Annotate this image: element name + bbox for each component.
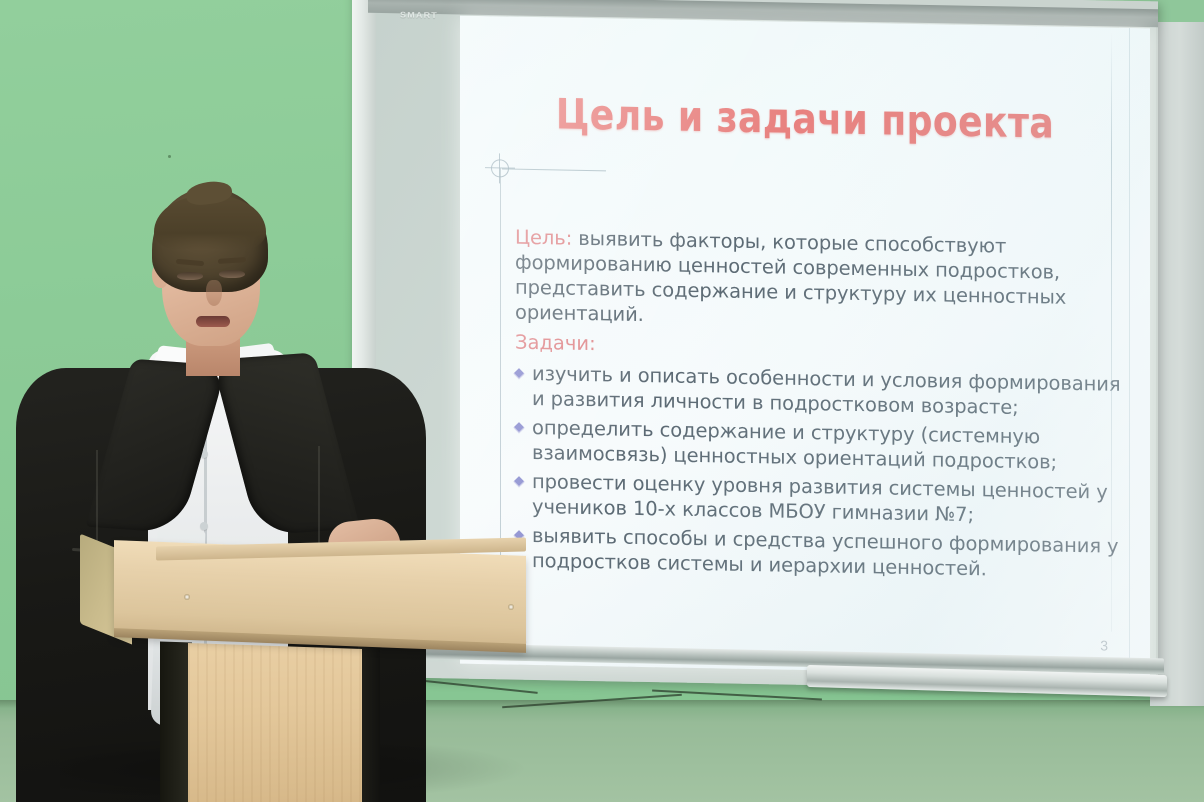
classroom-wall-right-panel (1150, 0, 1204, 706)
task-list-item: определить содержание и структуру (систе… (515, 415, 1127, 476)
projected-slide[interactable]: Цель и задачи проекта Цель: выявить факт… (460, 16, 1150, 677)
task-text: определить содержание и структуру (систе… (532, 416, 1057, 474)
smart-brand-logo: SMART (400, 10, 438, 20)
slide-body: Цель: выявить факторы, которые способств… (515, 225, 1127, 588)
presenter-nose (206, 280, 222, 306)
slide-edge-line-outer (1129, 28, 1130, 676)
podium-screw (184, 594, 190, 600)
podium-front-panel (188, 643, 362, 802)
task-list-item: изучить и описать особенности и условия … (515, 361, 1127, 422)
shirt-button (200, 522, 208, 530)
classroom-wall-right-green-strip (1150, 0, 1204, 22)
task-text: изучить и описать особенности и условия … (532, 362, 1120, 419)
task-list-item: провести оценку уровня развития системы … (515, 469, 1127, 530)
diamond-bullet-icon (513, 368, 524, 379)
tasks-list: изучить и описать особенности и условия … (515, 361, 1127, 584)
diamond-bullet-icon (513, 422, 524, 433)
task-text: провести оценку уровня развития системы … (532, 470, 1108, 526)
presenter-mouth (196, 316, 230, 327)
presenter-hair-fringe (154, 196, 266, 250)
task-text: выявить способы и средства успешного фор… (532, 524, 1119, 580)
presentation-scene: SMART Цель и задачи проекта Цель: выявит… (0, 0, 1204, 802)
slide-number: 3 (1100, 637, 1108, 653)
podium-screw (508, 604, 514, 610)
slide-edge-line (1111, 32, 1112, 632)
presenter-eye-left (177, 272, 203, 280)
slide-decor-horizontal-rule (502, 168, 606, 171)
goal-paragraph: Цель: выявить факторы, которые способств… (515, 225, 1127, 336)
diamond-bullet-icon (513, 476, 524, 487)
goal-label: Цель: (515, 226, 572, 250)
slide-title: Цель и задачи проекта (508, 89, 1101, 149)
podium (60, 536, 530, 802)
presenter-eye-right (219, 270, 245, 278)
goal-text: выявить факторы, которые способствуют фо… (515, 227, 1066, 326)
slide-decor-crosshair-tick-v (499, 153, 500, 183)
task-list-item: выявить способы и средства успешного фор… (515, 523, 1127, 584)
